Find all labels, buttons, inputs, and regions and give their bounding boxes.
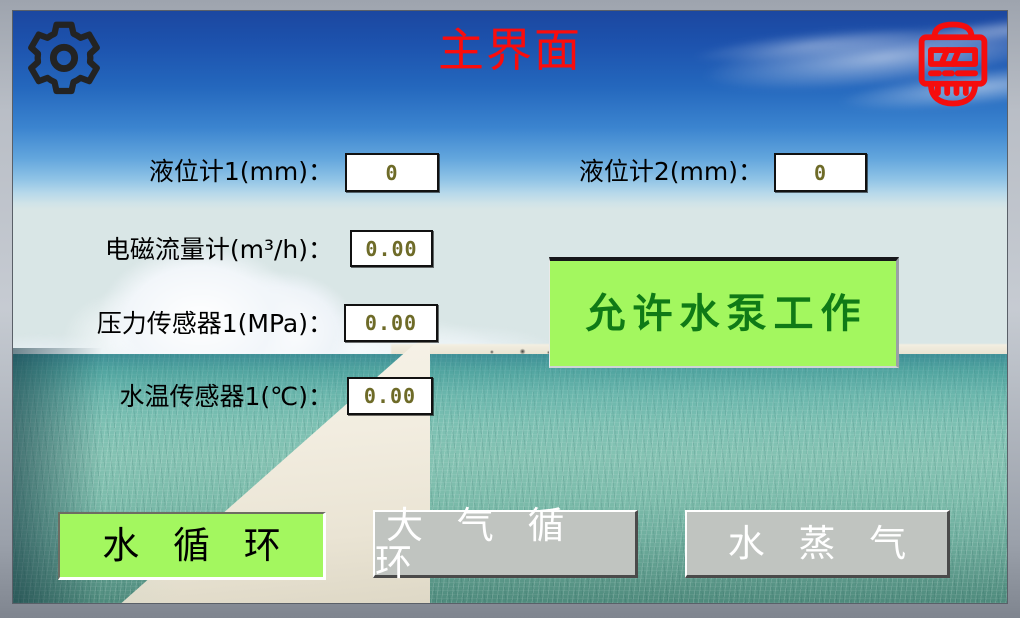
flow-meter-label: 电磁流量计(m³/h)： — [75, 237, 333, 262]
pressure-sensor-1-label: 压力传感器1(MPa)： — [75, 311, 333, 336]
mode-button-water-cycle-label: 水 循 环 — [91, 527, 292, 564]
pressure-sensor-1-value: 0.00 — [365, 313, 417, 333]
mode-button-air-cycle-label: 大 气 循 环 — [375, 507, 635, 581]
pump-enable-status-button[interactable]: 允许水泵工作 — [549, 257, 899, 368]
controller-device-icon — [911, 21, 995, 107]
flow-meter-field[interactable]: 0.00 — [350, 230, 433, 267]
level-gauge-2-label: 液位计2(mm)： — [558, 159, 763, 184]
level-gauge-1-label: 液位计1(mm)： — [123, 159, 333, 184]
water-temp-1-field[interactable]: 0.00 — [347, 377, 433, 415]
level-gauge-1-field[interactable]: 0 — [345, 153, 439, 192]
pressure-sensor-1-field[interactable]: 0.00 — [344, 304, 438, 342]
mode-button-air-cycle[interactable]: 大 气 循 环 — [373, 510, 638, 578]
level-gauge-2-field[interactable]: 0 — [774, 153, 867, 192]
mode-button-steam-label: 水 蒸 气 — [717, 525, 918, 562]
hmi-screen: 主界面 液位计1(mm)： 0 液位计2(mm)： 0 — [12, 10, 1008, 604]
flow-meter-value: 0.00 — [365, 239, 417, 259]
water-temp-1-label: 水温传感器1(℃)： — [88, 384, 333, 409]
mode-button-water-cycle[interactable]: 水 循 环 — [58, 512, 326, 580]
mode-button-steam[interactable]: 水 蒸 气 — [685, 510, 950, 578]
page-title: 主界面 — [13, 27, 1007, 73]
level-gauge-2-value: 0 — [814, 163, 827, 183]
device-bezel: 主界面 液位计1(mm)： 0 液位计2(mm)： 0 — [0, 0, 1020, 618]
pump-enable-status-label: 允许水泵工作 — [579, 294, 868, 334]
level-gauge-1-value: 0 — [385, 163, 398, 183]
water-temp-1-value: 0.00 — [364, 386, 416, 406]
device-info-button[interactable] — [907, 17, 999, 111]
